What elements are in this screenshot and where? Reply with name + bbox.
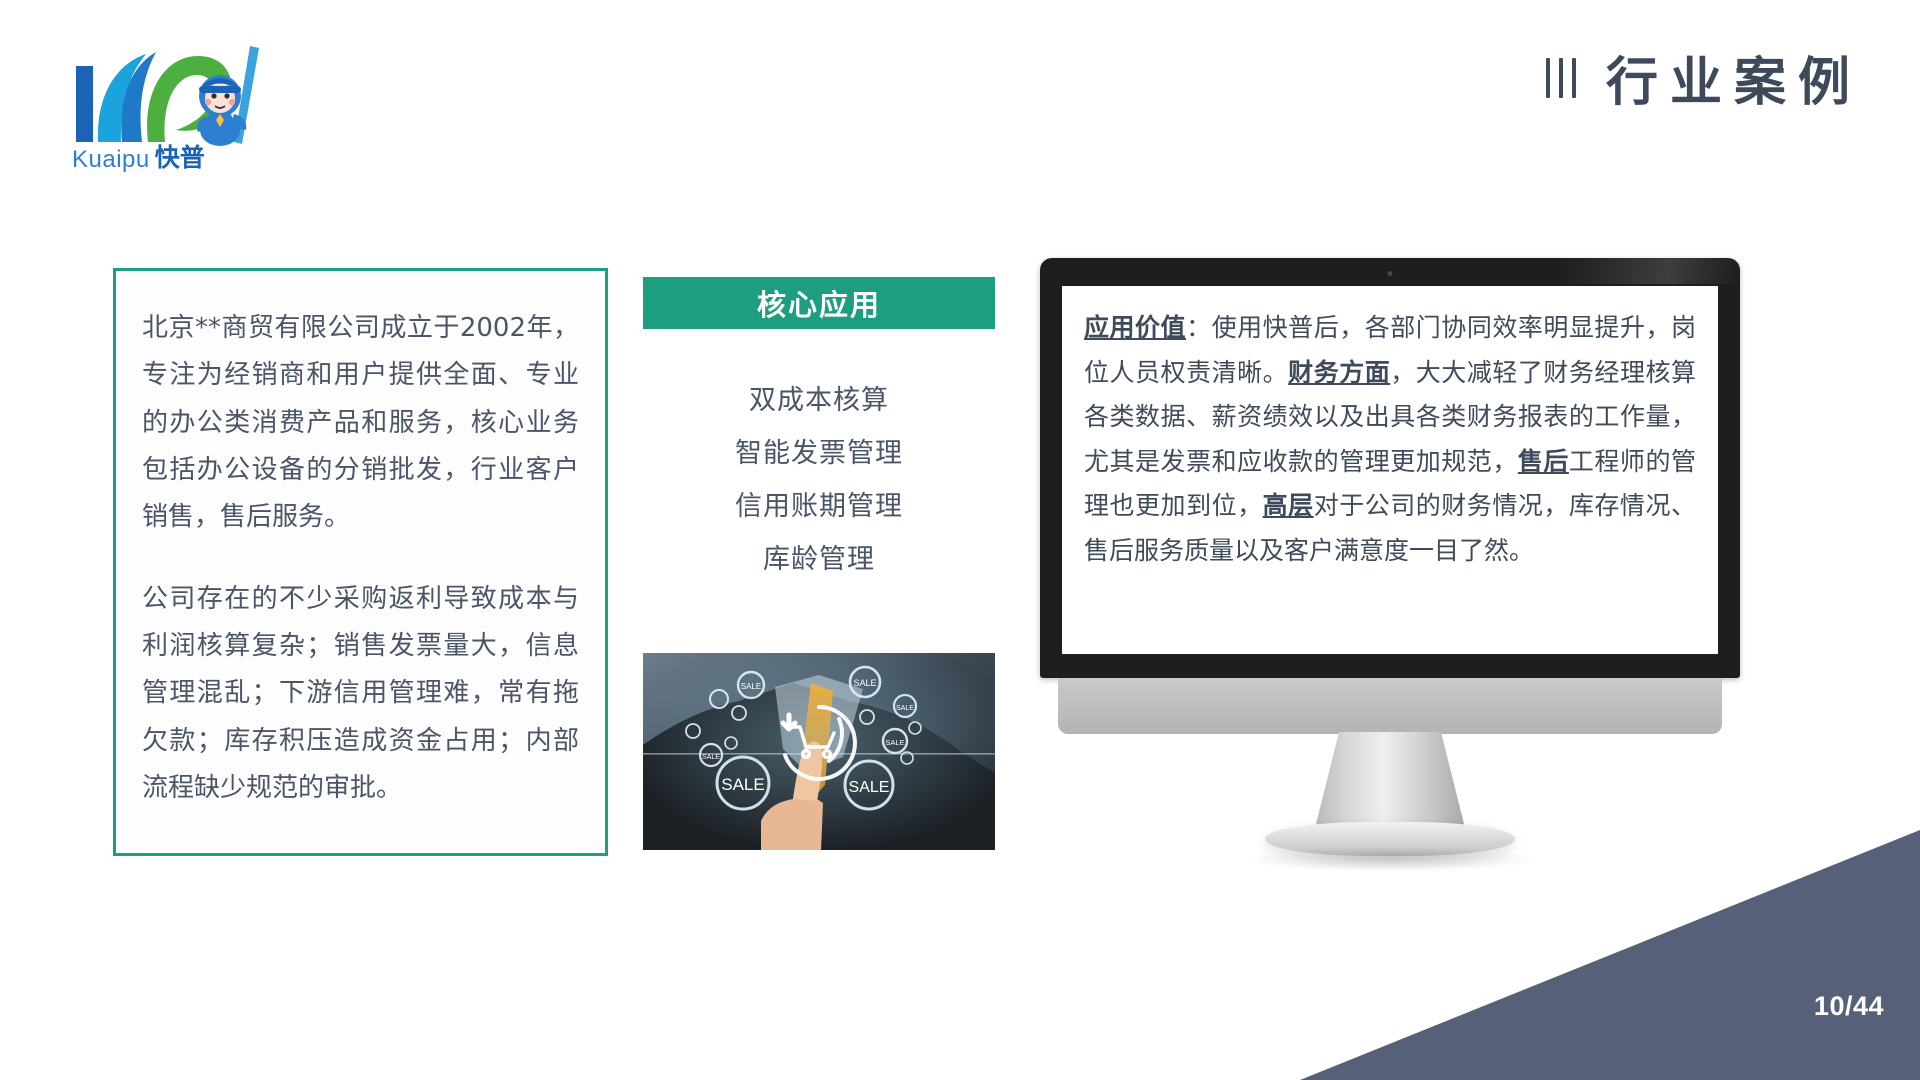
- ecommerce-sale-touch-photo: SALE SALE SALE SALE SALE SALE SALE: [643, 653, 995, 850]
- monitor-shadow: [1240, 846, 1540, 872]
- list-item: 智能发票管理: [735, 431, 903, 470]
- svg-text:SALE: SALE: [849, 779, 890, 796]
- core-applications-list: 双成本核算 智能发票管理 信用账期管理 库龄管理: [643, 378, 995, 576]
- svg-text:SALE: SALE: [853, 678, 876, 688]
- logo-cjk-text: 快普: [155, 138, 205, 174]
- monitor-screen: 应用价值：使用快普后，各部门协同效率明显提升，岗位人员权责清晰。财务方面，大大减…: [1062, 286, 1718, 654]
- application-value-label: 应用价值: [1084, 313, 1186, 342]
- logo-latin-text: Kuaipu: [72, 146, 150, 174]
- company-intro-paragraph: 北京**商贸有限公司成立于2002年，专注为经销商和用户提供全面、专业的办公类消…: [142, 305, 579, 542]
- monitor-stand-neck: [1315, 732, 1465, 828]
- monitor-chin: [1058, 678, 1722, 734]
- desktop-monitor-illustration: 应用价值：使用快普后，各部门协同效率明显提升，岗位人员权责清晰。财务方面，大大减…: [1040, 258, 1740, 728]
- finance-emphasis: 财务方面: [1288, 358, 1390, 387]
- page-number: 10/44: [1814, 991, 1884, 1022]
- svg-text:SALE: SALE: [721, 775, 764, 794]
- colon-text: ：: [1186, 313, 1212, 342]
- core-applications-header: 核心应用: [643, 277, 995, 329]
- ecommerce-sale-touch-illustration: SALE SALE SALE SALE SALE SALE SALE: [643, 653, 995, 850]
- aftersales-emphasis: 售后: [1518, 447, 1569, 476]
- list-item: 库龄管理: [763, 537, 875, 576]
- page-title: 行业案例: [1546, 40, 1862, 115]
- list-item: 双成本核算: [749, 378, 889, 417]
- core-applications-header-label: 核心应用: [757, 282, 881, 324]
- application-value-paragraph: 应用价值：使用快普后，各部门协同效率明显提升，岗位人员权责清晰。财务方面，大大减…: [1084, 306, 1696, 573]
- webcam-icon: [1388, 271, 1393, 276]
- logo-wordmark: Kuaipu 快普: [72, 138, 205, 174]
- slide-root: Kuaipu 快普 行业案例 北京**商贸有限公司成立于2002年，专注为经销商…: [0, 0, 1920, 1080]
- management-emphasis: 高层: [1263, 491, 1314, 520]
- three-vertical-bars-icon: [1546, 58, 1576, 98]
- page-title-text: 行业案例: [1606, 40, 1862, 115]
- company-background-card: 北京**商贸有限公司成立于2002年，专注为经销商和用户提供全面、专业的办公类消…: [113, 268, 608, 856]
- svg-text:SALE: SALE: [741, 682, 761, 691]
- svg-text:SALE: SALE: [896, 705, 914, 712]
- svg-text:SALE: SALE: [885, 738, 904, 747]
- svg-text:SALE: SALE: [702, 754, 720, 761]
- kuaipu-logo: Kuaipu 快普: [72, 38, 272, 178]
- company-pain-points-paragraph: 公司存在的不少采购返利导致成本与利润核算复杂；销售发票量大，信息管理混乱；下游信…: [142, 576, 579, 813]
- list-item: 信用账期管理: [735, 484, 903, 523]
